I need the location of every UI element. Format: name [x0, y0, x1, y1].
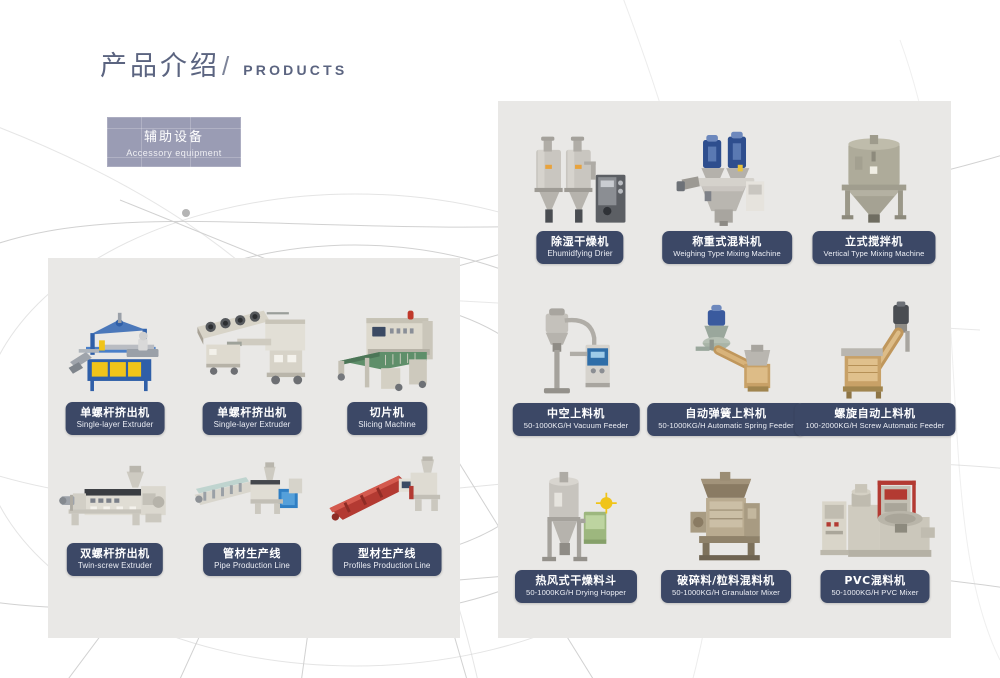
product-cell-right-3[interactable]: 中空上料机 50-1000KG/H Vacuum Feeder — [510, 298, 642, 436]
pipe-production-line-icon — [193, 452, 311, 542]
twin-screw-extruder-icon — [57, 452, 173, 542]
product-cell-right-6[interactable]: 热风式干燥料斗 50-1000KG/H Drying Hopper — [510, 465, 642, 603]
profiles-production-line-red-icon — [328, 452, 446, 542]
single-layer-extruder-blue-yellow-icon — [57, 300, 173, 401]
product-badge-left-3[interactable]: 双螺杆挤出机 Twin-screw Extruder — [67, 543, 163, 576]
product-cell-right-0[interactable]: 除湿干燥机 Ehumidfying Drier — [518, 126, 642, 264]
badge-label-en: 50-1000KG/H PVC Mixer — [832, 588, 919, 598]
product-badge-right-8[interactable]: PVC混料机 50-1000KG/H PVC Mixer — [821, 570, 930, 603]
product-badge-left-1[interactable]: 单螺杆挤出机 Single-layer Extruder — [203, 402, 302, 435]
badge-label-cn: 螺旋自动上料机 — [806, 407, 945, 420]
single-layer-extruder-roller-icon — [193, 300, 311, 401]
product-badge-right-5[interactable]: 螺旋自动上料机 100-2000KG/H Screw Automatic Fee… — [795, 403, 956, 436]
badge-label-cn: 热风式干燥料斗 — [526, 574, 626, 587]
product-badge-right-2[interactable]: 立式搅拌机 Vertical Type Mixing Machine — [812, 231, 935, 264]
product-badge-right-3[interactable]: 中空上料机 50-1000KG/H Vacuum Feeder — [513, 403, 640, 436]
badge-label-en: Single-layer Extruder — [214, 420, 291, 430]
product-cell-left-3[interactable]: 双螺杆挤出机 Twin-screw Extruder — [57, 452, 173, 576]
badge-label-cn: 型材生产线 — [344, 547, 431, 560]
badge-label-en: Profiles Production Line — [344, 561, 431, 571]
product-badge-left-4[interactable]: 管材生产线 Pipe Production Line — [203, 543, 301, 576]
callout-label-en: Accessory equipment — [126, 148, 222, 158]
product-cell-right-1[interactable]: 称重式混料机 Weighing Type Mixing Machine — [665, 126, 789, 264]
product-cell-left-0[interactable]: 单螺杆挤出机 Single-layer Extruder — [57, 300, 173, 435]
badge-label-cn: 自动弹簧上料机 — [658, 407, 794, 420]
product-badge-right-0[interactable]: 除湿干燥机 Ehumidfying Drier — [536, 231, 623, 264]
drying-hopper-icon — [510, 465, 642, 569]
badge-label-en: Ehumidfying Drier — [547, 249, 612, 259]
product-badge-left-0[interactable]: 单螺杆挤出机 Single-layer Extruder — [66, 402, 165, 435]
page-title-en: PRODUCTS — [243, 62, 347, 78]
product-cell-right-4[interactable]: 自动弹簧上料机 50-1000KG/H Automatic Spring Fee… — [660, 298, 792, 436]
product-cell-left-5[interactable]: 型材生产线 Profiles Production Line — [328, 452, 446, 576]
badge-label-en: Weighing Type Mixing Machine — [673, 249, 781, 259]
granulator-mixer-icon — [660, 465, 792, 569]
vacuum-feeder-icon — [510, 298, 642, 402]
product-badge-right-6[interactable]: 热风式干燥料斗 50-1000KG/H Drying Hopper — [515, 570, 637, 603]
badge-label-en: 50-1000KG/H Vacuum Feeder — [524, 421, 629, 431]
screw-feeder-icon — [805, 298, 945, 402]
page-title: 产品介绍 / PRODUCTS — [100, 44, 347, 83]
badge-label-cn: 破碎料/粒料混料机 — [672, 574, 780, 587]
badge-label-en: 50-1000KG/H Drying Hopper — [526, 588, 626, 598]
product-badge-right-1[interactable]: 称重式混料机 Weighing Type Mixing Machine — [662, 231, 792, 264]
badge-label-cn: 切片机 — [358, 406, 416, 419]
product-cell-right-8[interactable]: PVC混料机 50-1000KG/H PVC Mixer — [805, 465, 945, 603]
badge-label-en: Single-layer Extruder — [77, 420, 154, 430]
badge-label-en: 50-1000KG/H Automatic Spring Feeder — [658, 421, 794, 431]
product-cell-left-1[interactable]: 单螺杆挤出机 Single-layer Extruder — [193, 300, 311, 435]
product-badge-right-4[interactable]: 自动弹簧上料机 50-1000KG/H Automatic Spring Fee… — [647, 403, 805, 436]
product-cell-left-2[interactable]: 切片机 Slicing Machine — [328, 300, 446, 435]
weighing-mixer-icon — [665, 126, 789, 230]
badge-label-cn: 中空上料机 — [524, 407, 629, 420]
product-badge-right-7[interactable]: 破碎料/粒料混料机 50-1000KG/H Granulator Mixer — [661, 570, 791, 603]
badge-label-cn: 称重式混料机 — [673, 235, 781, 248]
product-badge-left-5[interactable]: 型材生产线 Profiles Production Line — [333, 543, 442, 576]
spring-feeder-icon — [660, 298, 792, 402]
badge-label-en: Pipe Production Line — [214, 561, 290, 571]
badge-label-cn: PVC混料机 — [832, 574, 919, 587]
badge-label-en: Slicing Machine — [358, 420, 416, 430]
badge-label-cn: 立式搅拌机 — [823, 235, 924, 248]
vertical-mixer-icon — [812, 126, 936, 230]
accessory-equipment-callout: 辅助设备 Accessory equipment — [107, 117, 241, 167]
badge-label-cn: 管材生产线 — [214, 547, 290, 560]
title-separator: / — [222, 51, 229, 82]
badge-label-en: 50-1000KG/H Granulator Mixer — [672, 588, 780, 598]
badge-label-cn: 除湿干燥机 — [547, 235, 612, 248]
slicing-machine-icon — [328, 300, 446, 401]
badge-label-cn: 单螺杆挤出机 — [77, 406, 154, 419]
badge-label-en: Vertical Type Mixing Machine — [823, 249, 924, 259]
product-catalog-page: 产品介绍 / PRODUCTS 辅助设备 Accessory equipment — [0, 0, 1000, 678]
dehumidifying-drier-icon — [518, 126, 642, 230]
product-cell-right-2[interactable]: 立式搅拌机 Vertical Type Mixing Machine — [812, 126, 936, 264]
badge-label-en: 100-2000KG/H Screw Automatic Feeder — [806, 421, 945, 431]
page-title-cn: 产品介绍 — [100, 44, 220, 83]
badge-label-en: Twin-screw Extruder — [78, 561, 152, 571]
product-cell-right-7[interactable]: 破碎料/粒料混料机 50-1000KG/H Granulator Mixer — [660, 465, 792, 603]
product-cell-left-4[interactable]: 管材生产线 Pipe Production Line — [193, 452, 311, 576]
product-cell-right-5[interactable]: 螺旋自动上料机 100-2000KG/H Screw Automatic Fee… — [805, 298, 945, 436]
callout-label-cn: 辅助设备 — [144, 126, 204, 145]
badge-label-cn: 单螺杆挤出机 — [214, 406, 291, 419]
badge-label-cn: 双螺杆挤出机 — [78, 547, 152, 560]
deco-node-dot — [182, 209, 190, 217]
pvc-mixer-icon — [805, 465, 945, 569]
product-badge-left-2[interactable]: 切片机 Slicing Machine — [347, 402, 427, 435]
